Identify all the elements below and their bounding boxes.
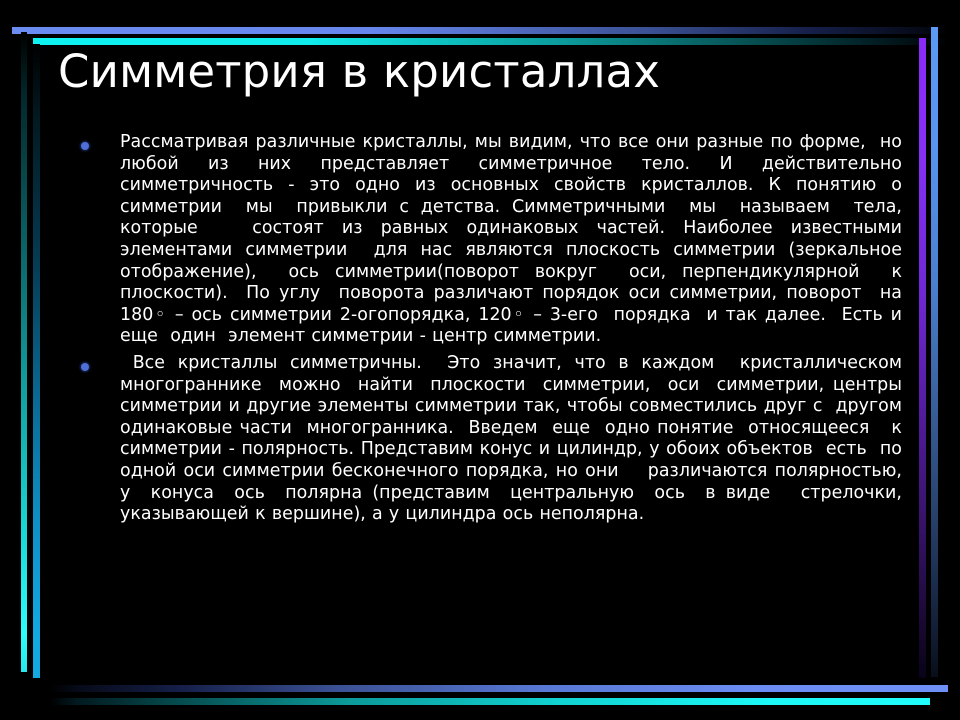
slide-body-list: Рассматривая различные кристаллы, мы вид… [72,132,902,528]
right-violet-accent-line [919,38,926,678]
left-cyan-accent-line [33,44,40,678]
bottom-blue-accent-line [50,685,948,692]
bullet-dot-icon [81,363,89,371]
right-blue-accent-line [931,27,938,677]
bullet-paragraph-text: Все кристаллы симметричны. Это значит, ч… [120,353,902,526]
list-item: Все кристаллы симметричны. Это значит, ч… [72,353,902,526]
bottom-cyan-accent-line [50,698,930,705]
left-teal-accent-line [21,32,27,672]
list-item: Рассматривая различные кристаллы, мы вид… [72,132,902,348]
bullet-dot-icon [81,142,89,150]
slide-title: Симметрия в кристаллах [58,44,898,100]
presentation-slide: Симметрия в кристаллах Рассматривая разл… [0,0,960,720]
bullet-paragraph-text: Рассматривая различные кристаллы, мы вид… [120,132,902,348]
top-blue-accent-line [12,27,948,34]
